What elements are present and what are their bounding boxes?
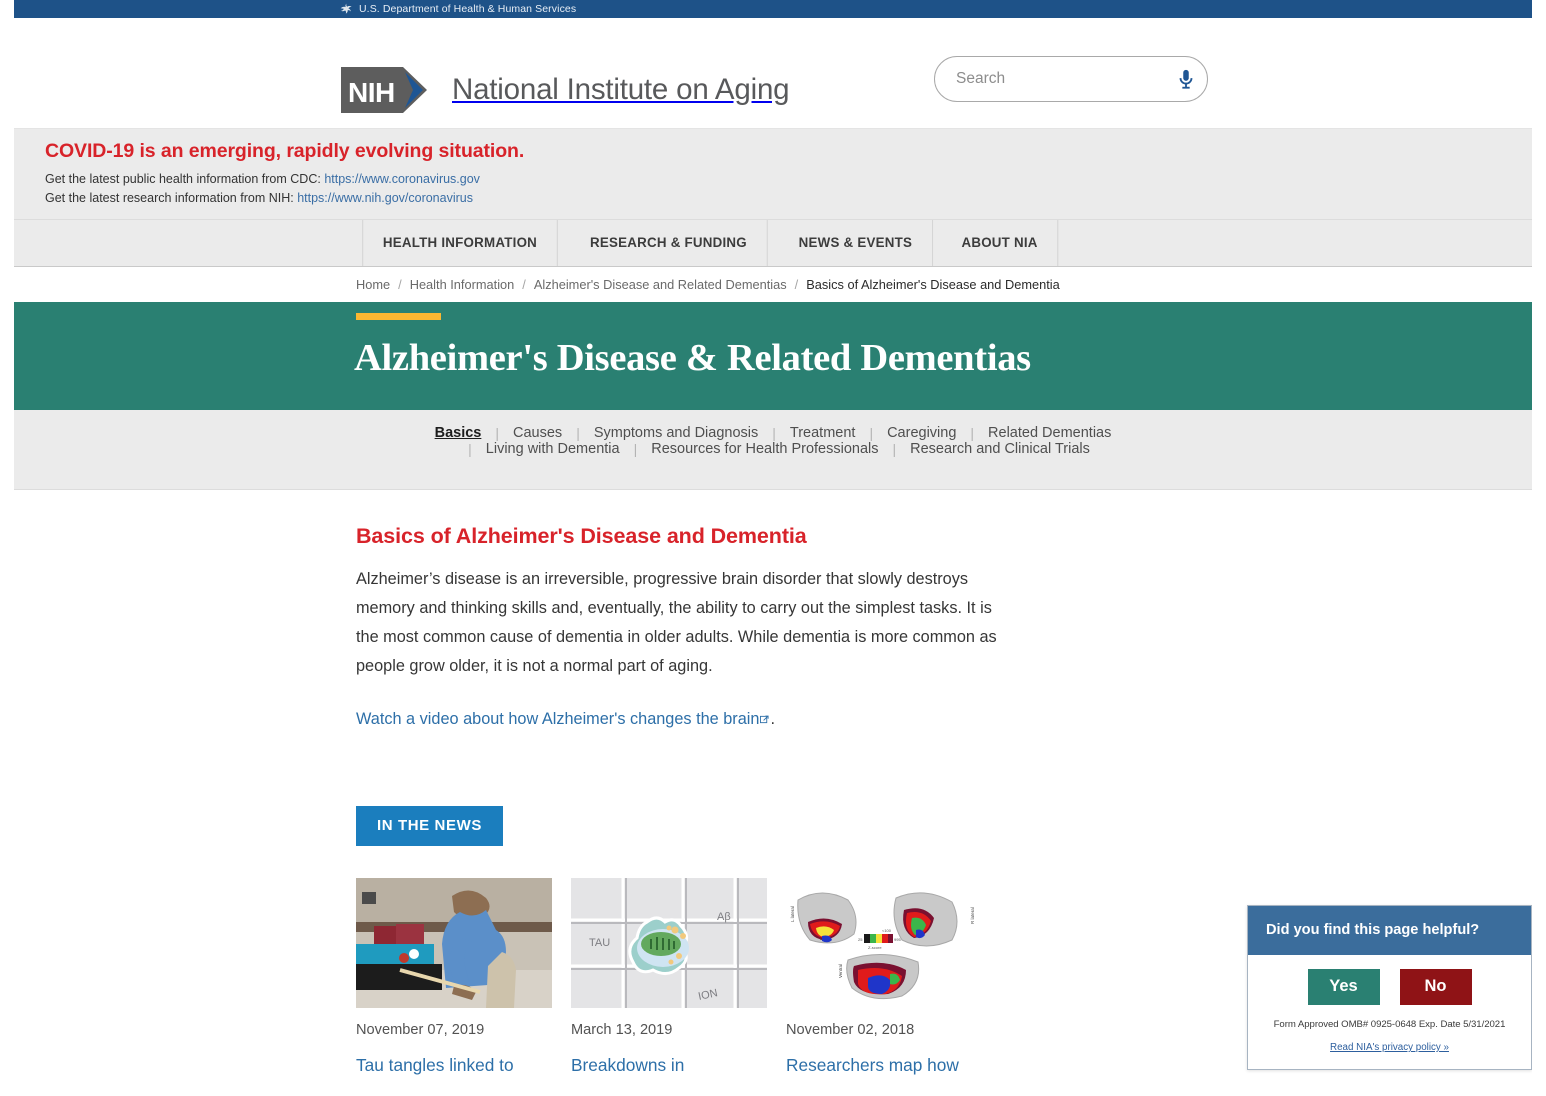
covid-alert-line: Get the latest public health information… [45, 172, 480, 186]
svg-text:995: 995 [894, 937, 901, 942]
news-card-date: November 02, 2018 [786, 1022, 982, 1038]
news-card-date: November 07, 2019 [356, 1022, 552, 1038]
section-navigation: Basics | Causes | Symptoms and Diagnosis… [14, 410, 1532, 490]
covid-cdc-label: Get the latest public health information… [45, 172, 321, 186]
subnav-separator: | [468, 441, 472, 457]
svg-text:TAU: TAU [589, 937, 610, 949]
feedback-question: Did you find this page helpful? [1248, 906, 1531, 955]
subnav-item-symptoms-and-diagnosis[interactable]: Symptoms and Diagnosis [593, 425, 759, 441]
news-card-title[interactable]: Researchers map how [786, 1053, 982, 1078]
site-title: National Institute on Aging [452, 73, 789, 107]
svg-text:R lateral: R lateral [970, 907, 975, 924]
video-link-period: . [770, 710, 775, 728]
nia-home-link[interactable]: NIH National Institute on Aging [341, 65, 789, 115]
external-link-icon [760, 705, 769, 714]
subnav-item-related-dementias[interactable]: Related Dementias [987, 425, 1112, 441]
subnav-separator: | [576, 425, 580, 441]
subnav-item-causes[interactable]: Causes [512, 425, 563, 441]
breadcrumb-item-home[interactable]: Home [356, 277, 390, 292]
hhs-banner-label: U.S. Department of Health & Human Servic… [359, 3, 576, 15]
subnav-separator: | [495, 425, 499, 441]
svg-text:Aβ: Aβ [717, 911, 731, 923]
covid-nih-label: Get the latest research information from… [45, 191, 294, 205]
covid-cdc-link[interactable]: https://www.coronavirus.gov [324, 172, 480, 186]
news-card-date: March 13, 2019 [571, 1022, 767, 1038]
breadcrumb-item-health-information[interactable]: Health Information [410, 277, 515, 292]
hhs-banner: U.S. Department of Health & Human Servic… [14, 0, 1532, 18]
news-card-title[interactable]: Breakdowns in [571, 1053, 767, 1078]
breadcrumb-separator: / [522, 277, 526, 292]
content-heading: Basics of Alzheimer's Disease and Dement… [356, 524, 1532, 549]
feedback-no-button[interactable]: No [1400, 969, 1472, 1005]
section-nav-row-2: | Living with Dementia | Resources for H… [14, 441, 1532, 457]
feedback-yes-button[interactable]: Yes [1308, 969, 1380, 1005]
svg-text:L lateral: L lateral [790, 906, 795, 922]
hhs-seal-icon [339, 3, 353, 16]
breadcrumb-item-adrd[interactable]: Alzheimer's Disease and Related Dementia… [534, 277, 787, 292]
search-input[interactable] [935, 57, 1164, 101]
svg-text:Z-score: Z-score [868, 945, 882, 950]
site-masthead: NIH National Institute on Aging [14, 18, 1532, 129]
brain-scan-map-icon: 25<100 995Z-score L lateral R lateral Ve [786, 878, 982, 1008]
news-card[interactable]: TAU Aβ ION March 13, 2019 Breakdowns in [571, 878, 767, 1078]
browser-viewport: U.S. Department of Health & Human Servic… [0, 0, 1546, 1096]
intro-paragraph: Alzheimer’s disease is an irreversible, … [356, 565, 1004, 681]
svg-text:25: 25 [858, 937, 863, 942]
svg-text:NIH: NIH [348, 77, 395, 108]
nav-item-research-funding[interactable]: RESEARCH & FUNDING [570, 220, 767, 266]
subnav-item-research-and-clinical-trials[interactable]: Research and Clinical Trials [909, 441, 1091, 457]
breadcrumb-item-current: Basics of Alzheimer's Disease and Dement… [806, 277, 1060, 292]
breadcrumb-separator: / [398, 277, 402, 292]
subnav-separator: | [869, 425, 873, 441]
nih-logo-icon: NIH [341, 65, 433, 115]
in-the-news-badge: IN THE NEWS [356, 806, 503, 846]
privacy-policy-link-container: Read NIA's privacy policy » [1258, 1042, 1521, 1053]
covid-alert-line: Get the latest research information from… [45, 191, 473, 205]
feedback-buttons: Yes No [1258, 969, 1521, 1005]
nav-item-about-nia[interactable]: ABOUT NIA [941, 220, 1058, 266]
covid-alert: COVID-19 is an emerging, rapidly evolvin… [14, 129, 1532, 219]
svg-text:Ventral: Ventral [838, 964, 843, 978]
breadcrumb: Home / Health Information / Alzheimer's … [14, 267, 1532, 302]
hero-accent-bar [356, 313, 441, 320]
section-nav-row-1: Basics | Causes | Symptoms and Diagnosis… [14, 425, 1532, 441]
subnav-item-caregiving[interactable]: Caregiving [886, 425, 957, 441]
news-card[interactable]: 25<100 995Z-score L lateral R lateral Ve [786, 878, 982, 1078]
main-navigation: HEALTH INFORMATION RESEARCH & FUNDING NE… [14, 219, 1532, 267]
illustration-tau-amyloid-puzzle-icon: TAU Aβ ION [571, 878, 767, 1008]
subnav-item-basics[interactable]: Basics [434, 425, 483, 441]
microphone-icon[interactable] [1164, 57, 1207, 101]
video-link-paragraph: Watch a video about how Alzheimer's chan… [356, 705, 1004, 734]
covid-alert-heading: COVID-19 is an emerging, rapidly evolvin… [45, 140, 524, 163]
search-container [934, 56, 1208, 102]
covid-nih-link[interactable]: https://www.nih.gov/coronavirus [297, 191, 473, 205]
news-card-title[interactable]: Tau tangles linked to [356, 1053, 552, 1078]
subnav-separator: | [893, 441, 897, 457]
subnav-separator: | [970, 425, 974, 441]
subnav-item-resources-for-health-professionals[interactable]: Resources for Health Professionals [650, 441, 879, 457]
nav-item-news-events[interactable]: NEWS & EVENTS [779, 220, 933, 266]
watch-video-link[interactable]: Watch a video about how Alzheimer's chan… [356, 710, 759, 728]
feedback-widget: Did you find this page helpful? Yes No F… [1247, 905, 1532, 1070]
subnav-separator: | [634, 441, 638, 457]
subnav-item-treatment[interactable]: Treatment [789, 425, 857, 441]
photo-man-playing-pool-icon [356, 878, 552, 1008]
breadcrumb-separator: / [795, 277, 799, 292]
page-title: Alzheimer's Disease & Related Dementias [354, 336, 1031, 380]
omb-notice: Form Approved OMB# 0925-0648 Exp. Date 5… [1258, 1019, 1521, 1030]
subnav-separator: | [772, 425, 776, 441]
news-card[interactable]: November 07, 2019 Tau tangles linked to [356, 878, 552, 1078]
svg-text:<100: <100 [882, 928, 892, 933]
feedback-body: Yes No Form Approved OMB# 0925-0648 Exp.… [1248, 955, 1531, 1069]
nav-item-health-information[interactable]: HEALTH INFORMATION [362, 220, 557, 266]
subnav-item-living-with-dementia[interactable]: Living with Dementia [485, 441, 621, 457]
page-hero: Alzheimer's Disease & Related Dementias [14, 302, 1532, 410]
page-canvas: U.S. Department of Health & Human Servic… [14, 0, 1532, 1096]
privacy-policy-link[interactable]: Read NIA's privacy policy » [1330, 1042, 1449, 1053]
